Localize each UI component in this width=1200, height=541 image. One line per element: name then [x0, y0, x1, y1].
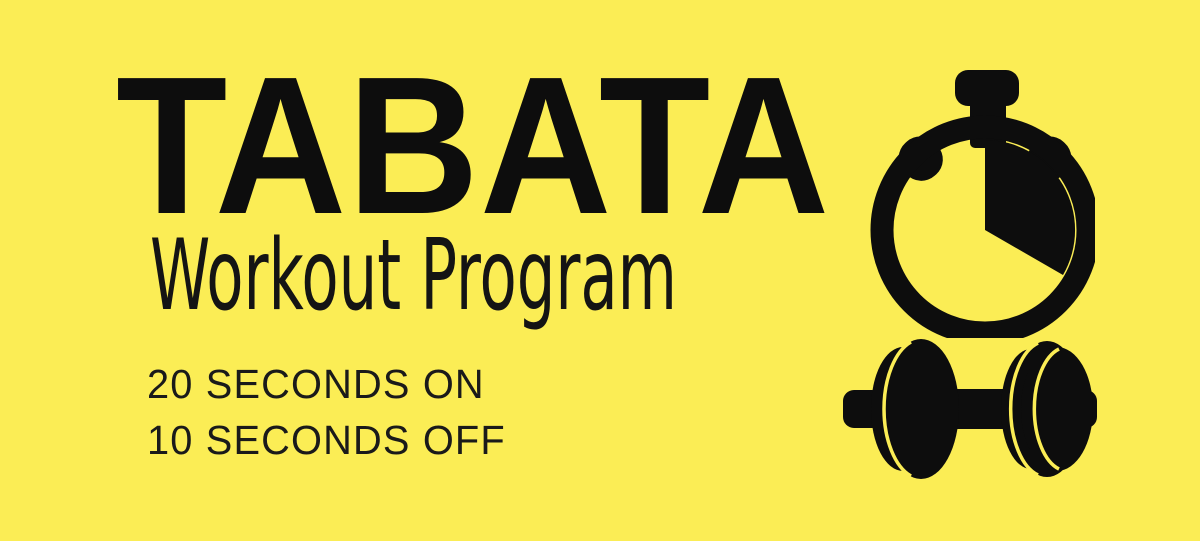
stopwatch-icon [845, 58, 1095, 343]
banner-subtitle: Workout Program [150, 225, 677, 329]
page-title: TABATA [116, 48, 830, 244]
list-item-rest-interval: 10 SECONDS OFF [147, 412, 506, 468]
dumbbell-icon [835, 330, 1105, 495]
list-item-work-interval: 20 SECONDS ON [147, 356, 506, 412]
tabata-workout-banner: TABATA Workout Program 20 SECONDS ON 10 … [0, 0, 1200, 541]
interval-details-list: 20 SECONDS ON 10 SECONDS OFF [147, 356, 517, 468]
banner-icon-column [820, 0, 1200, 541]
banner-text-block: TABATA Workout Program 20 SECONDS ON 10 … [0, 0, 760, 541]
